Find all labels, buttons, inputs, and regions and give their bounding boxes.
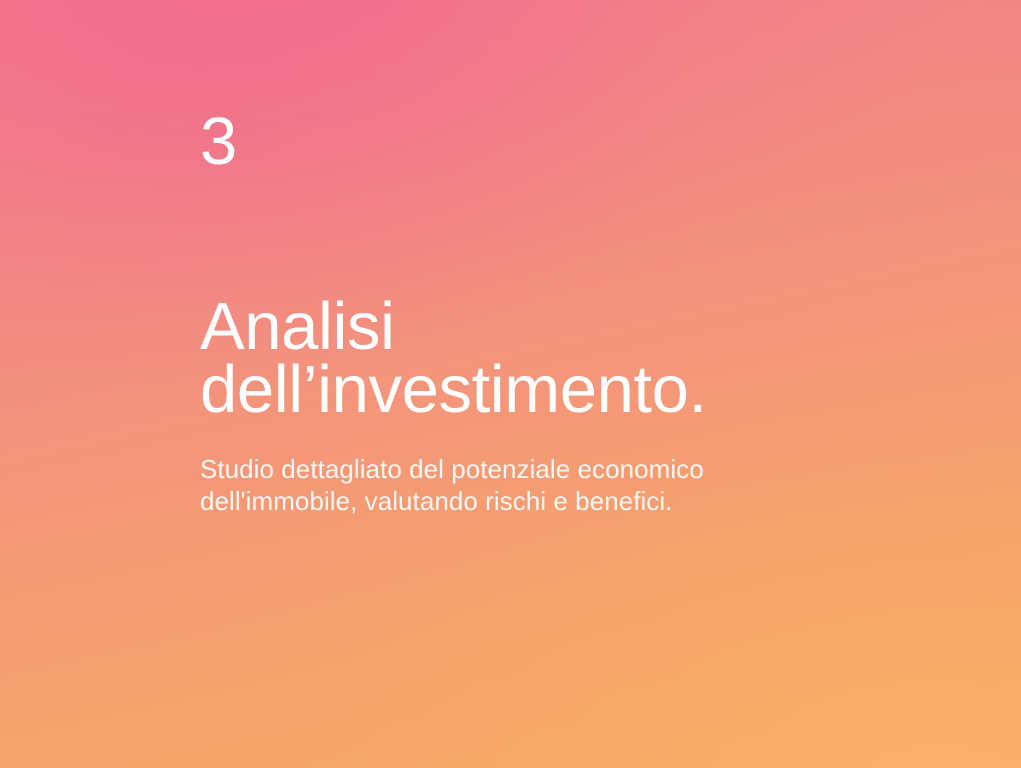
page-title: Analisi dell’investimento. <box>200 295 900 421</box>
section-number: 3 <box>200 108 238 175</box>
presentation-slide: 3 Analisi dell’investimento. Studio dett… <box>0 0 1021 768</box>
slide-content: 3 Analisi dell’investimento. Studio dett… <box>200 0 900 768</box>
section-subtitle: Studio dettagliato del potenziale econom… <box>200 453 820 517</box>
